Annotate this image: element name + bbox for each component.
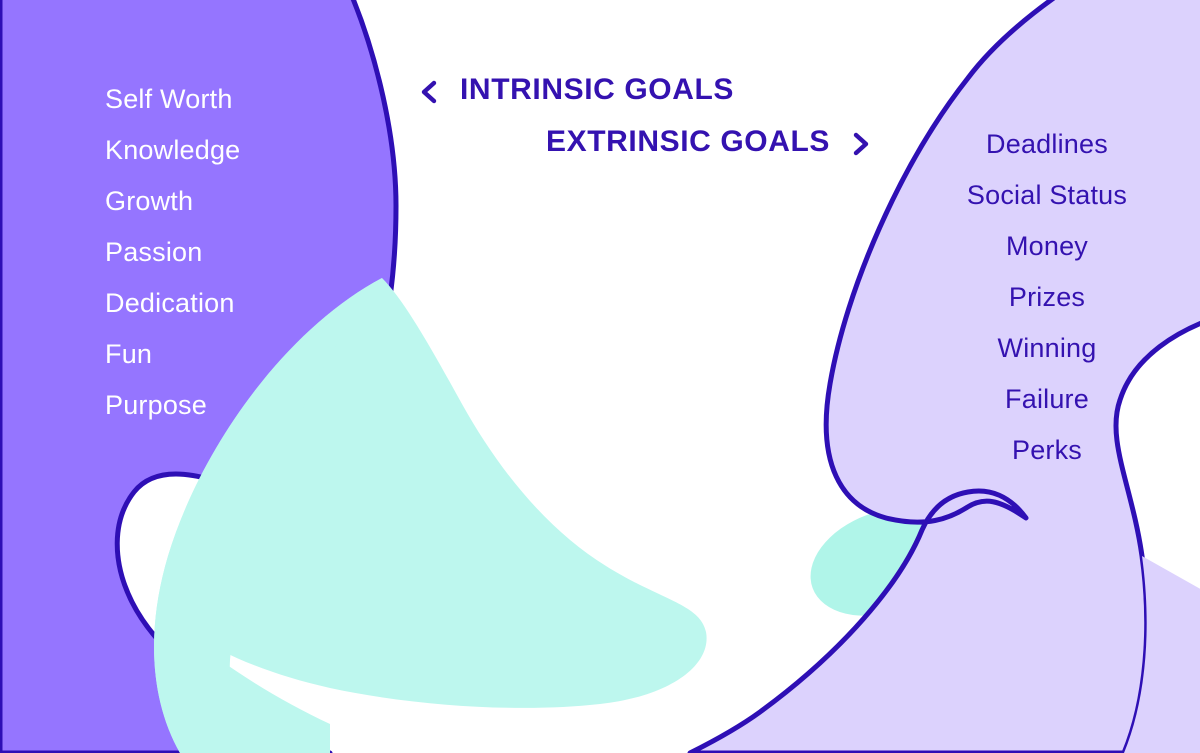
list-item: Fun (105, 329, 240, 380)
chevron-left-icon[interactable] (418, 79, 440, 101)
extrinsic-goals-list: Deadlines Social Status Money Prizes Win… (922, 119, 1172, 476)
list-item: Purpose (105, 380, 240, 431)
list-item: Failure (922, 374, 1172, 425)
list-item: Self Worth (105, 74, 240, 125)
list-item: Winning (922, 323, 1172, 374)
infographic-canvas: INTRINSIC GOALS EXTRINSIC GOALS Self Wor… (0, 0, 1200, 753)
intrinsic-goals-list: Self Worth Knowledge Growth Passion Dedi… (105, 74, 240, 431)
goal-headings: INTRINSIC GOALS EXTRINSIC GOALS (400, 64, 880, 168)
list-item: Dedication (105, 278, 240, 329)
list-item: Perks (922, 425, 1172, 476)
heading-extrinsic-goals[interactable]: EXTRINSIC GOALS (400, 116, 880, 168)
list-item: Growth (105, 176, 240, 227)
list-item: Knowledge (105, 125, 240, 176)
list-item: Social Status (922, 170, 1172, 221)
heading-intrinsic-goals[interactable]: INTRINSIC GOALS (400, 64, 880, 116)
heading-extrinsic-label: EXTRINSIC GOALS (546, 125, 830, 159)
list-item: Deadlines (922, 119, 1172, 170)
chevron-right-icon[interactable] (850, 131, 872, 153)
list-item: Money (922, 221, 1172, 272)
heading-intrinsic-label: INTRINSIC GOALS (460, 73, 734, 107)
list-item: Passion (105, 227, 240, 278)
list-item: Prizes (922, 272, 1172, 323)
